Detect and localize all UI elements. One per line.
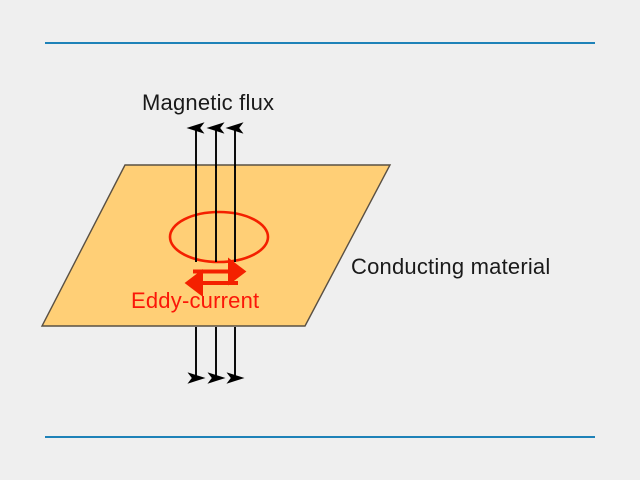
eddy-current-label: Eddy-current — [131, 288, 259, 314]
magnetic-flux-label: Magnetic flux — [142, 90, 274, 116]
slide-canvas: Magnetic flux Conducting material Eddy-c… — [0, 0, 640, 480]
eddy-current-diagram — [0, 0, 640, 480]
conducting-material-label: Conducting material — [351, 254, 550, 280]
flux-arrows-down-group — [196, 327, 235, 378]
